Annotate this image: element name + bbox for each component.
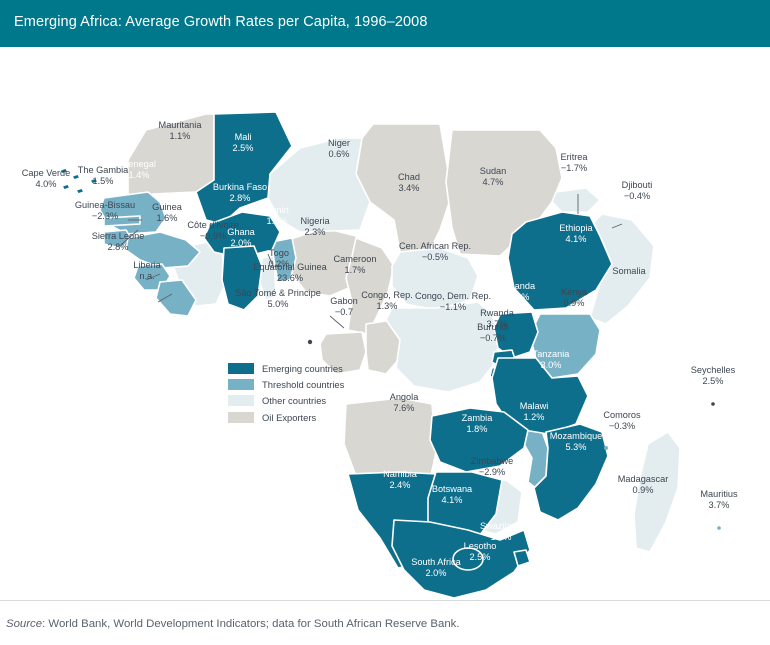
legend-label: Emerging countries — [262, 363, 343, 374]
country-shape-mauritius — [717, 526, 721, 530]
legend-label: Oil Exporters — [262, 412, 316, 423]
africa-map-svg — [0, 52, 770, 600]
legend-swatch-threshold — [228, 379, 254, 390]
source-note: Source: World Bank, World Development In… — [6, 618, 460, 630]
country-shape-drc — [386, 302, 500, 392]
country-shape-gambia — [104, 216, 140, 226]
country-shape-south-africa — [392, 520, 530, 598]
country-shape-guinea — [126, 232, 200, 268]
country-shape-angola — [344, 398, 436, 484]
legend-swatch-other — [228, 395, 254, 406]
country-shape-togo — [260, 256, 276, 300]
title-bar: Emerging Africa: Average Growth Rates pe… — [0, 0, 770, 47]
source-text: : World Bank, World Development Indicato… — [42, 618, 459, 630]
source-label: Source — [6, 618, 42, 630]
legend-item-other[interactable]: Other countries — [228, 394, 344, 408]
country-shape-senegal — [100, 192, 166, 234]
legend-item-emerging[interactable]: Emerging countries — [228, 362, 344, 376]
country-shape-car — [392, 248, 478, 310]
legend-swatch-emerging — [228, 363, 254, 374]
map-canvas: Cape Verde4.0%The Gambia1.5%Senegal1.4%G… — [0, 52, 770, 600]
legend-label: Threshold countries — [262, 379, 344, 390]
country-shape-eritrea — [552, 188, 600, 212]
legend-swatch-oil — [228, 412, 254, 423]
legend-label: Other countries — [262, 395, 326, 406]
legend-item-oil[interactable]: Oil Exporters — [228, 410, 344, 424]
country-shape-cape-verde — [60, 168, 98, 194]
footer-divider — [0, 600, 770, 601]
map-legend: Emerging countriesThreshold countriesOth… — [228, 362, 344, 426]
country-shape-comoros — [604, 446, 608, 450]
country-shape-seychelles — [711, 402, 715, 406]
country-shape-madagascar — [634, 432, 680, 552]
country-shape-ghana — [222, 246, 262, 310]
page-title: Emerging Africa: Average Growth Rates pe… — [14, 14, 428, 30]
country-shape-chad — [356, 124, 452, 252]
legend-item-threshold[interactable]: Threshold countries — [228, 378, 344, 392]
country-shape-sao-tome — [308, 340, 312, 344]
leader-line-eq-guinea — [330, 316, 344, 328]
